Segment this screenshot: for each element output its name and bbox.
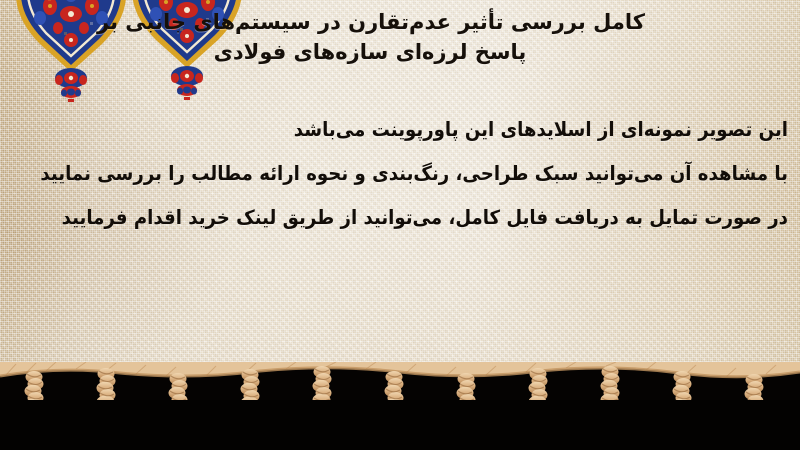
carpet-knotted-fringe	[0, 362, 800, 450]
slide-body-line-3: در صورت تمایل به دریافت فایل کامل، می‌تو…	[64, 196, 788, 240]
slide-canvas: کامل بررسی تأثیر عدم‌تقارن در سیستم‌های …	[0, 0, 800, 450]
slide-title: کامل بررسی تأثیر عدم‌تقارن در سیستم‌های …	[0, 8, 800, 68]
slide-title-line-2: پاسخ لرزه‌ای سازه‌های فولادی	[0, 38, 800, 68]
slide-body-text: این تصویر نمونه‌ای از اسلایدهای این پاور…	[10, 108, 788, 240]
slide-body-line-1: این تصویر نمونه‌ای از اسلایدهای این پاور…	[64, 108, 788, 152]
slide-title-line-1: کامل بررسی تأثیر عدم‌تقارن در سیستم‌های …	[0, 8, 800, 38]
slide-body-line-2: با مشاهده آن می‌توانید سبک طراحی، رنگ‌بن…	[64, 152, 788, 196]
